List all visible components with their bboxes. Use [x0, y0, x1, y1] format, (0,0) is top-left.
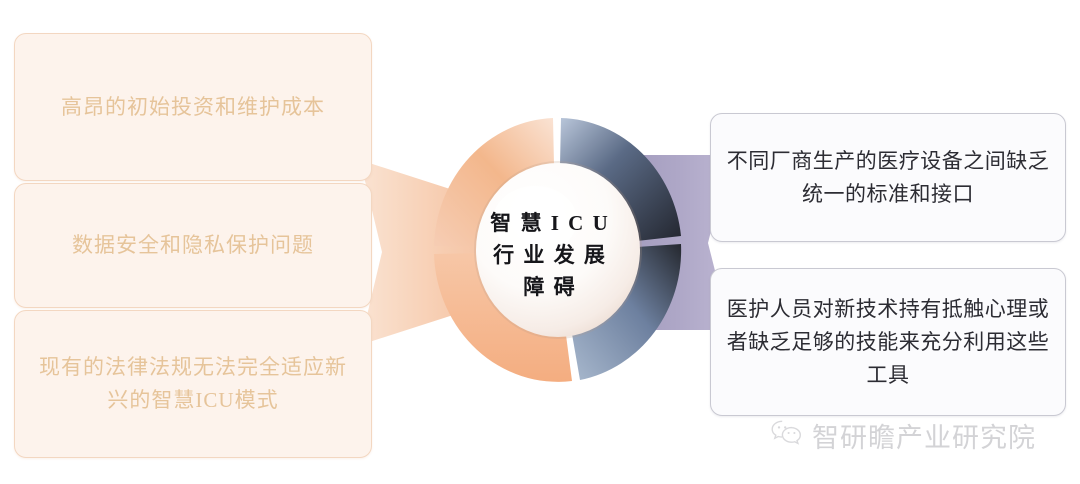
right-box-2[interactable]: 医护人员对新技术持有抵触心理或者缺乏足够的技能来充分利用这些工具 [710, 268, 1066, 416]
wechat-icon [770, 419, 804, 452]
right-box-1-text: 不同厂商生产的医疗设备之间缺乏统一的标准和接口 [711, 145, 1065, 211]
right-box-2-text: 医护人员对新技术持有抵触心理或者缺乏足够的技能来充分利用这些工具 [711, 293, 1065, 392]
diagram-canvas: 智 慧 I C U 行 业 发 展 障 碍 高昂的初始投资和维护成本 数据安全和… [0, 0, 1080, 484]
left-box-2[interactable]: 数据安全和隐私保护问题 [14, 183, 372, 308]
left-box-3[interactable]: 现有的法律法规无法完全适应新兴的智慧ICU模式 [14, 310, 372, 458]
center-sphere-graphic [408, 108, 708, 393]
left-box-3-text: 现有的法律法规无法完全适应新兴的智慧ICU模式 [15, 351, 371, 417]
watermark-text: 智研瞻产业研究院 [812, 416, 1036, 455]
left-box-1-text: 高昂的初始投资和维护成本 [15, 91, 371, 124]
right-box-1[interactable]: 不同厂商生产的医疗设备之间缺乏统一的标准和接口 [710, 113, 1066, 242]
watermark: 智研瞻产业研究院 [770, 414, 1036, 456]
left-box-2-text: 数据安全和隐私保护问题 [15, 229, 371, 262]
left-box-1[interactable]: 高昂的初始投资和维护成本 [14, 33, 372, 181]
